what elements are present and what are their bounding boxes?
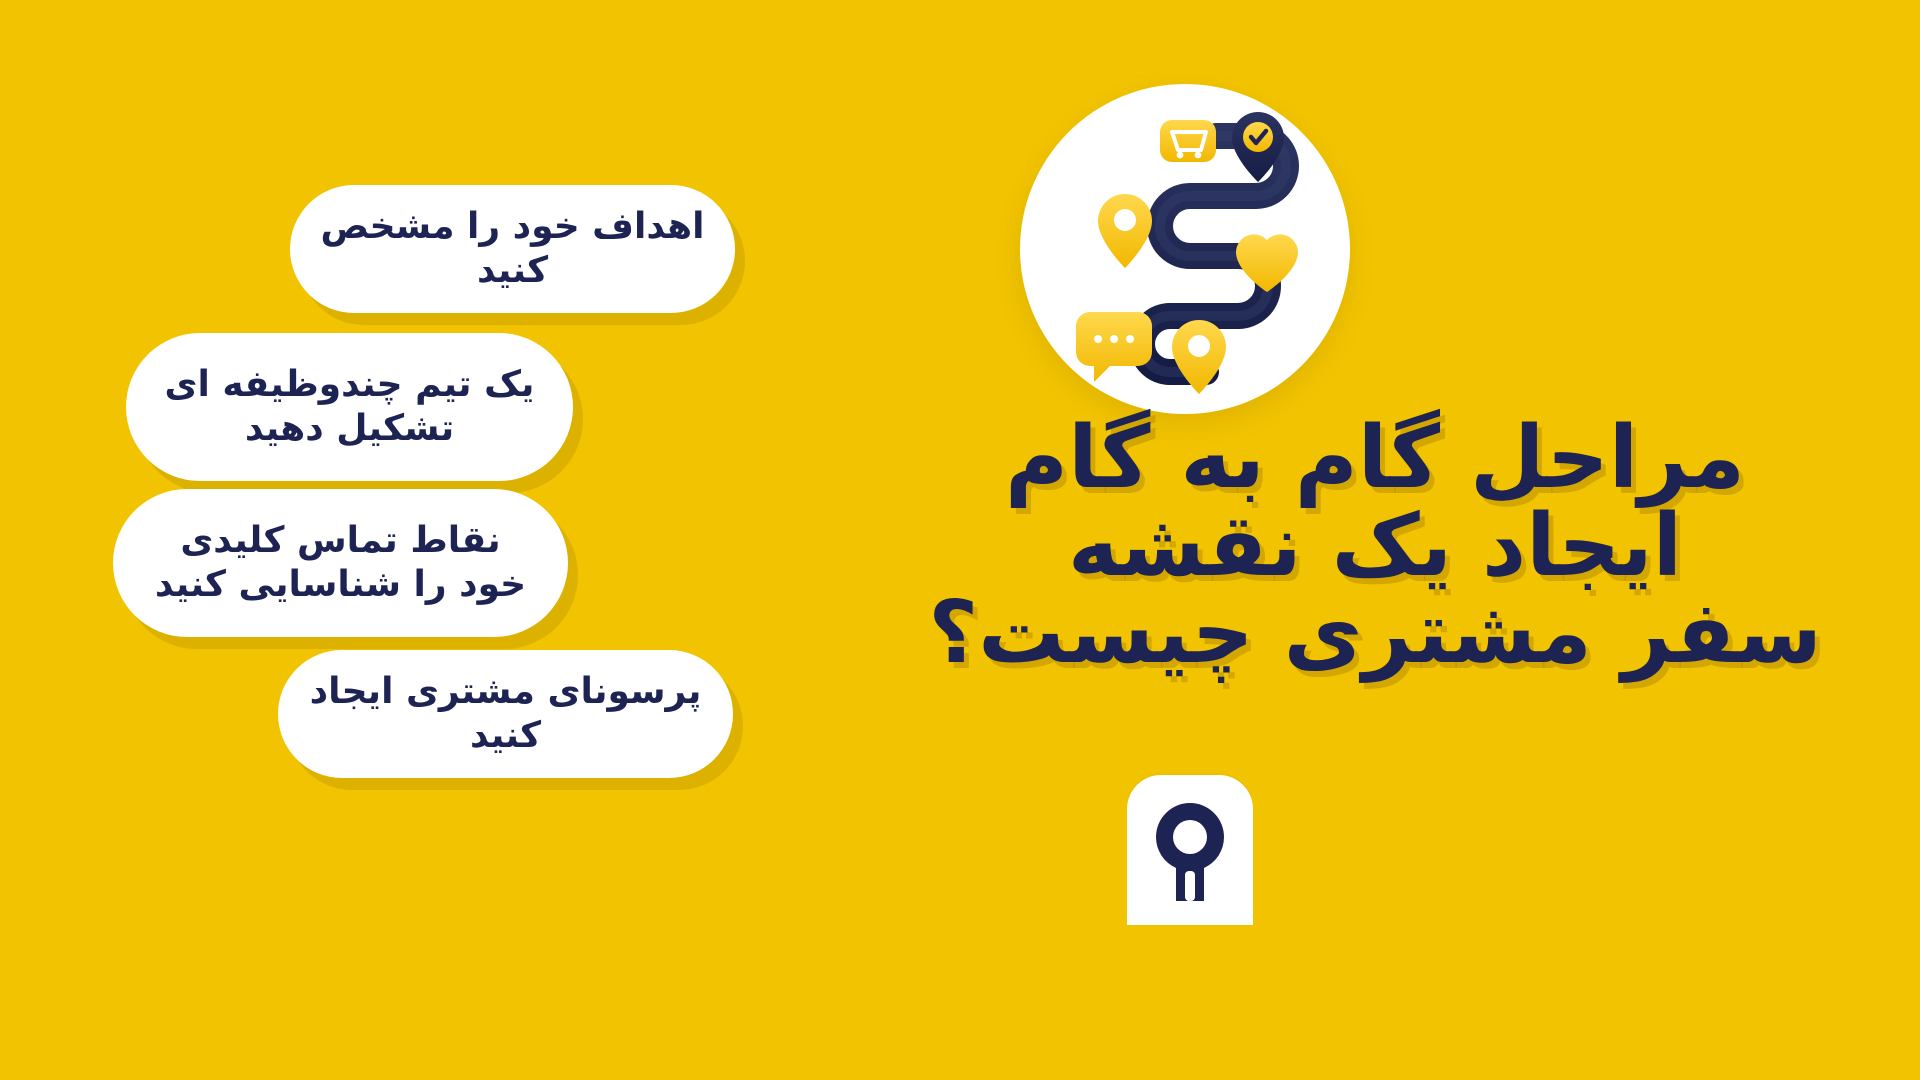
page-title-line-3: سفر مشتری چیست؟: [830, 590, 1920, 678]
hero-column: مراحل گام به گام ایجاد یک نقشه سفر مشتری…: [960, 0, 1920, 1080]
shopping-cart-icon: [1160, 120, 1216, 162]
location-pin-icon: [1098, 194, 1152, 268]
page-title-line-2: ایجاد یک نقشه: [830, 503, 1920, 591]
step-card-3-label: نقاط تماس کلیدی خود را شناسایی کنید: [147, 519, 534, 607]
heart-icon: [1236, 234, 1298, 292]
step-card-3[interactable]: نقاط تماس کلیدی خود را شناسایی کنید: [113, 489, 568, 637]
step-card-4[interactable]: پرسونای مشتری ایجاد کنید: [278, 650, 733, 778]
brand-logo: [1127, 775, 1253, 925]
steps-list: اهداف خود را مشخص کنید یک تیم چندوظیفه ا…: [0, 0, 960, 1080]
step-card-1-label: اهداف خود را مشخص کنید: [316, 205, 709, 293]
poster-canvas: اهداف خود را مشخص کنید یک تیم چندوظیفه ا…: [0, 0, 1920, 1080]
page-title-line-1: مراحل گام به گام: [830, 415, 1920, 503]
step-card-1[interactable]: اهداف خود را مشخص کنید: [290, 185, 735, 313]
illustration-badge: [1020, 84, 1350, 414]
person-in-circle-icon: [1142, 797, 1238, 907]
step-card-2-label: یک تیم چندوظیفه ای تشکیل دهید: [160, 363, 539, 451]
step-card-4-label: پرسونای مشتری ایجاد کنید: [304, 670, 707, 758]
page-title: مراحل گام به گام ایجاد یک نقشه سفر مشتری…: [830, 415, 1920, 678]
step-card-2[interactable]: یک تیم چندوظیفه ای تشکیل دهید: [126, 333, 573, 481]
customer-journey-map-illustration: [1020, 84, 1350, 414]
